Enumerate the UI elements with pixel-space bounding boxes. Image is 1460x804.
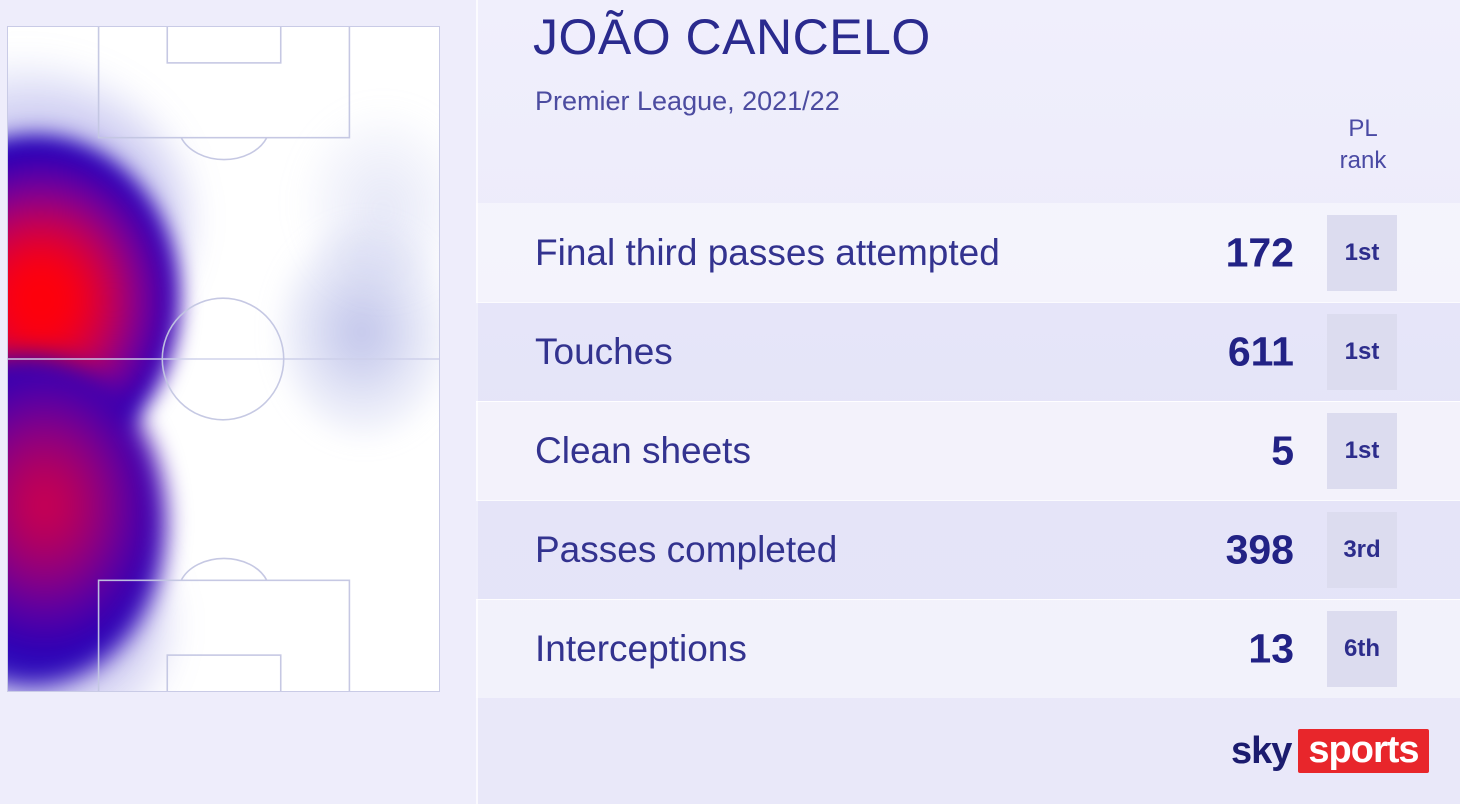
sports-wordmark-box: sports: [1298, 729, 1428, 773]
status-badge: 1st: [1327, 314, 1397, 390]
stat-label: Final third passes attempted: [535, 232, 1000, 274]
rank-header-line-1: PL: [1300, 113, 1426, 145]
stat-label: Touches: [535, 331, 673, 373]
rank-column-header: PL rank: [1300, 113, 1426, 177]
stat-value: 13: [1248, 626, 1294, 673]
table-row: Final third passes attempted 172 1st: [476, 203, 1460, 302]
page-title: JOÃO CANCELO: [533, 8, 931, 66]
pitch-markings: [8, 27, 439, 691]
stat-value: 611: [1228, 329, 1294, 376]
sports-wordmark: sports: [1308, 729, 1418, 771]
stat-label: Interceptions: [535, 628, 747, 670]
stats-table: Final third passes attempted 172 1st Tou…: [476, 203, 1460, 698]
stat-value: 5: [1271, 428, 1294, 475]
table-row: Touches 611 1st: [476, 302, 1460, 401]
stat-value: 398: [1226, 527, 1294, 574]
sky-wordmark: sky: [1231, 732, 1291, 770]
sky-sports-logo: sky sports: [1231, 730, 1429, 772]
pitch-heatmap: [7, 26, 440, 692]
competition-season-subtitle: Premier League, 2021/22: [535, 86, 840, 117]
infographic-stage: JOÃO CANCELO Premier League, 2021/22 PL …: [0, 0, 1460, 804]
rank-header-line-2: rank: [1300, 145, 1426, 177]
stat-value: 172: [1226, 229, 1294, 276]
stat-label: Clean sheets: [535, 430, 751, 472]
status-badge: 1st: [1327, 215, 1397, 291]
status-badge: 3rd: [1327, 512, 1397, 588]
table-row: Clean sheets 5 1st: [476, 401, 1460, 500]
table-row: Passes completed 398 3rd: [476, 500, 1460, 599]
stat-label: Passes completed: [535, 529, 837, 571]
status-badge: 6th: [1327, 611, 1397, 687]
table-row: Interceptions 13 6th: [476, 599, 1460, 698]
status-badge: 1st: [1327, 413, 1397, 489]
